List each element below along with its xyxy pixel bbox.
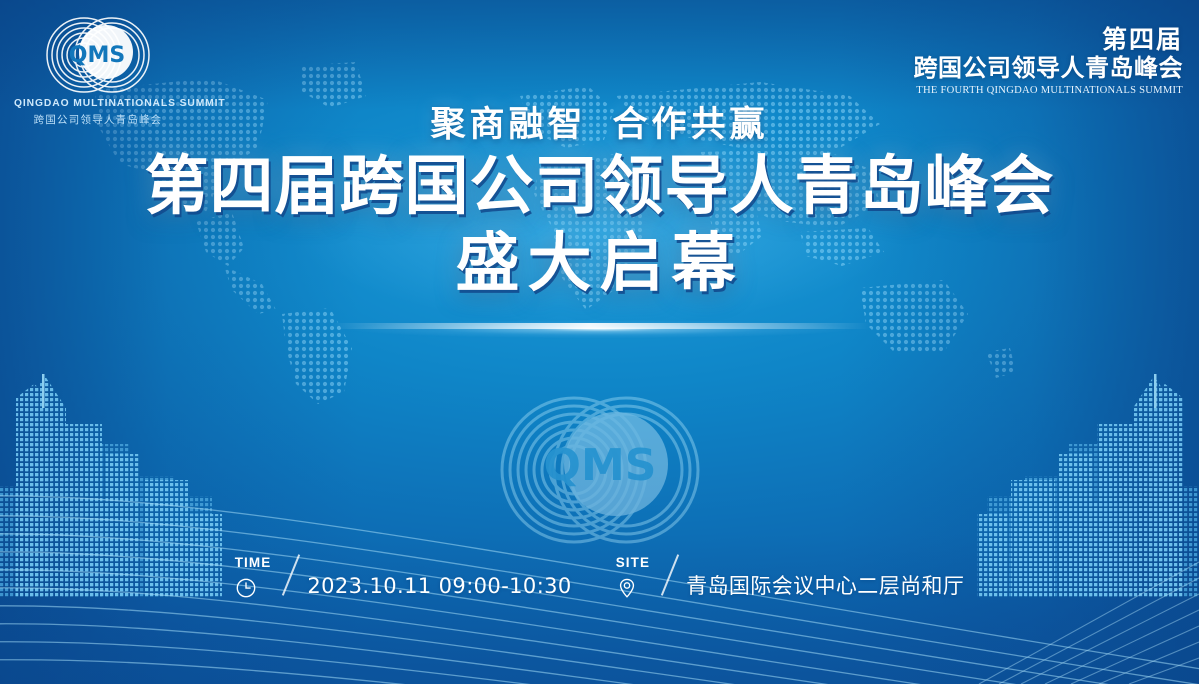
clock-icon <box>235 577 257 599</box>
site-slash-divider <box>658 559 684 599</box>
time-label-group: TIME <box>235 556 278 599</box>
edition-line: 第四届 <box>914 26 1184 54</box>
event-site-block: SITE 青岛国际会议中心二层尚和厅 <box>616 556 965 599</box>
title-light-streak-core <box>330 323 870 329</box>
site-value: 青岛国际会议中心二层尚和厅 <box>686 576 964 599</box>
event-time-block: TIME 2023.10.11 09:00-10:30 <box>235 556 572 599</box>
title-light-streak <box>240 316 960 342</box>
time-label: TIME <box>235 556 272 570</box>
map-pin-icon <box>616 577 638 599</box>
qms-logo-icon: QMS <box>42 16 154 94</box>
hero-slogan-part-2: 合作共赢 <box>613 105 769 145</box>
time-slash-divider <box>279 559 305 599</box>
hero-title-line-2: 盛大启幕 <box>0 230 1199 299</box>
time-value: 2023.10.11 09:00-10:30 <box>307 576 571 599</box>
summit-name-en: THE FOURTH QINGDAO MULTINATIONALS SUMMIT <box>914 85 1184 96</box>
hero-title-block: 聚商融智合作共赢 第四届跨国公司领导人青岛峰会 盛大启幕 <box>0 96 1199 299</box>
event-info-row: TIME 2023.10.11 09:00-10:30 SITE 青岛国际会议中… <box>0 556 1199 599</box>
summit-banner: QMS QMS QINGDAO MULTINATIONALS SUMMIT 跨国… <box>0 0 1199 684</box>
svg-text:QMS: QMS <box>69 43 125 68</box>
qms-watermark-logo: QMS <box>490 392 710 548</box>
hero-slogan: 聚商融智合作共赢 <box>0 96 1199 147</box>
summit-name-cn: 跨国公司领导人青岛峰会 <box>914 55 1184 83</box>
hero-slogan-part-1: 聚商融智 <box>430 105 586 145</box>
hero-title-line-1: 第四届跨国公司领导人青岛峰会 <box>0 153 1199 222</box>
site-label: SITE <box>616 556 650 570</box>
summit-edition-lockup: 第四届 跨国公司领导人青岛峰会 THE FOURTH QINGDAO MULTI… <box>914 26 1184 96</box>
site-label-group: SITE <box>616 556 656 599</box>
svg-text:QMS: QMS <box>543 440 656 491</box>
